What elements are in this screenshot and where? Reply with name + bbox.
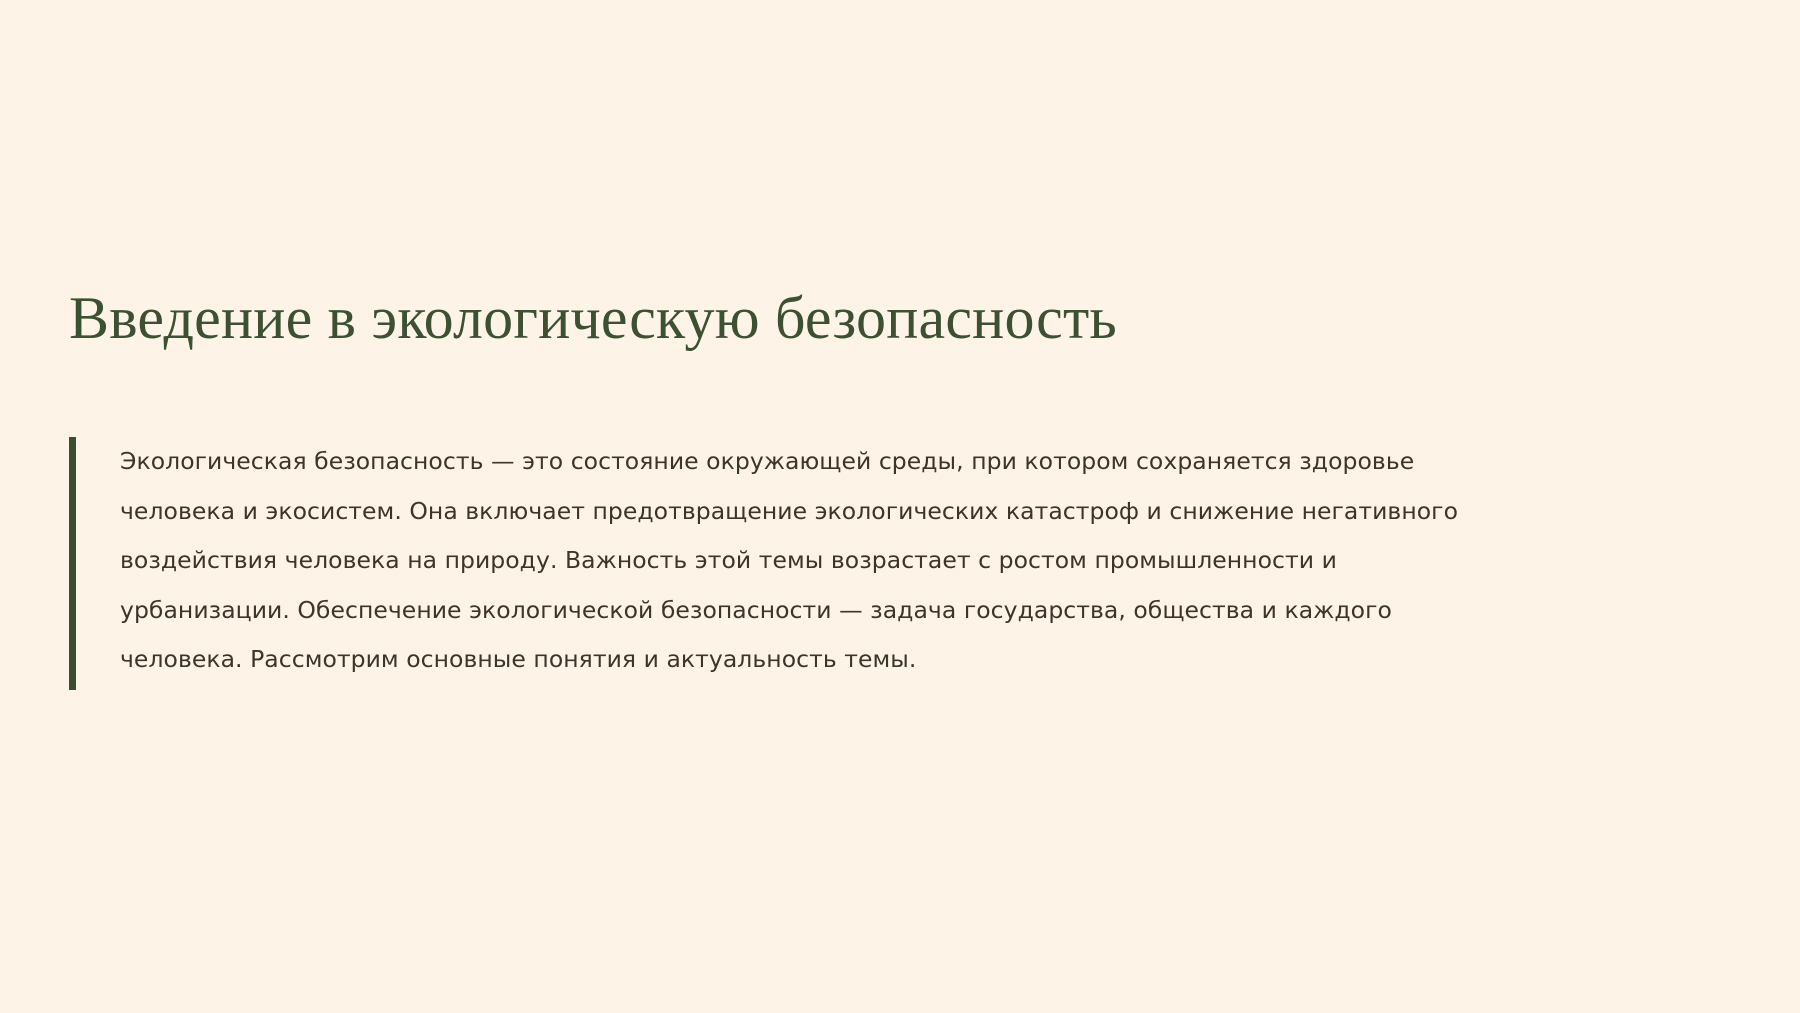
slide-content-area: Введение в экологическую безопасность Эк…	[69, 0, 1731, 1013]
body-callout-block: Экологическая безопасность — это состоян…	[69, 437, 1507, 690]
accent-bar	[69, 437, 76, 690]
body-paragraph: Экологическая безопасность — это состоян…	[76, 437, 1507, 690]
page-title: Введение в экологическую безопасность	[69, 282, 1709, 354]
slide-canvas: Введение в экологическую безопасность Эк…	[0, 0, 1800, 1013]
